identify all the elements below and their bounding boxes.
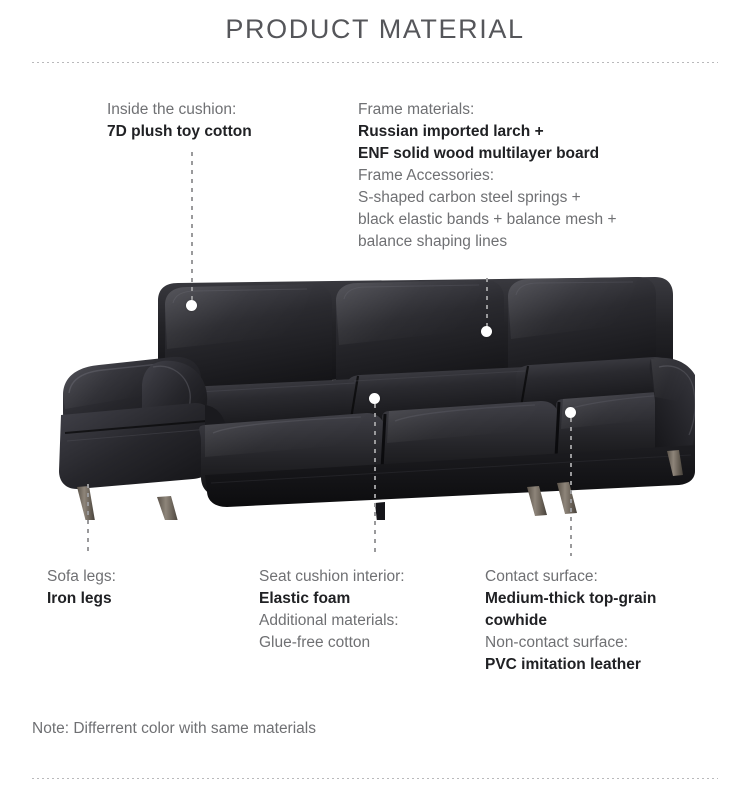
cushion-value: 7D plush toy cotton bbox=[107, 121, 252, 143]
contact-surface-value-2: cowhide bbox=[485, 610, 656, 632]
frame-accessories-line-3: balance shaping lines bbox=[358, 231, 617, 253]
frame-accessories-line-1: S-shaped carbon steel springs + bbox=[358, 187, 617, 209]
callout-seat-cushion-interior: Seat cushion interior: Elastic foam Addi… bbox=[259, 566, 405, 654]
leader-line-frame bbox=[486, 278, 488, 330]
noncontact-surface-value: PVC imitation leather bbox=[485, 654, 656, 676]
divider-top bbox=[32, 62, 718, 63]
callout-contact-surface: Contact surface: Medium-thick top-grain … bbox=[485, 566, 656, 676]
callout-dot-cushion bbox=[186, 300, 197, 311]
note-text: Note: Differrent color with same materia… bbox=[32, 720, 316, 738]
frame-materials-value-2: ENF solid wood multilayer board bbox=[358, 143, 617, 165]
sofa-right-arm bbox=[650, 358, 695, 455]
leader-line-seat bbox=[374, 404, 376, 556]
frame-materials-value-1: Russian imported larch + bbox=[358, 121, 617, 143]
contact-surface-label: Contact surface: bbox=[485, 566, 656, 588]
leader-line-cushion bbox=[191, 152, 193, 302]
page-title: PRODUCT MATERIAL bbox=[0, 14, 750, 45]
noncontact-surface-label: Non-contact surface: bbox=[485, 632, 656, 654]
cushion-label: Inside the cushion: bbox=[107, 99, 252, 121]
product-material-infographic: PRODUCT MATERIAL Inside the cushion: 7D … bbox=[0, 0, 750, 800]
legs-label: Sofa legs: bbox=[47, 566, 116, 588]
divider-bottom bbox=[32, 778, 718, 779]
seat-label: Seat cushion interior: bbox=[259, 566, 405, 588]
callout-dot-surface bbox=[565, 407, 576, 418]
contact-surface-value-1: Medium-thick top-grain bbox=[485, 588, 656, 610]
frame-materials-label: Frame materials: bbox=[358, 99, 617, 121]
leader-line-surface bbox=[570, 418, 572, 556]
legs-value: Iron legs bbox=[47, 588, 116, 610]
seat-additional-label: Additional materials: bbox=[259, 610, 405, 632]
callout-dot-frame bbox=[481, 326, 492, 337]
callout-sofa-legs: Sofa legs: Iron legs bbox=[47, 566, 116, 610]
callout-inside-the-cushion: Inside the cushion: 7D plush toy cotton bbox=[107, 99, 252, 143]
leader-line-legs bbox=[87, 484, 89, 556]
callout-frame-materials: Frame materials: Russian imported larch … bbox=[358, 99, 617, 253]
seat-additional-value: Glue-free cotton bbox=[259, 632, 405, 654]
frame-accessories-line-2: black elastic bands + balance mesh + bbox=[358, 209, 617, 231]
callout-dot-seat bbox=[369, 393, 380, 404]
seat-value: Elastic foam bbox=[259, 588, 405, 610]
frame-accessories-label: Frame Accessories: bbox=[358, 165, 617, 187]
